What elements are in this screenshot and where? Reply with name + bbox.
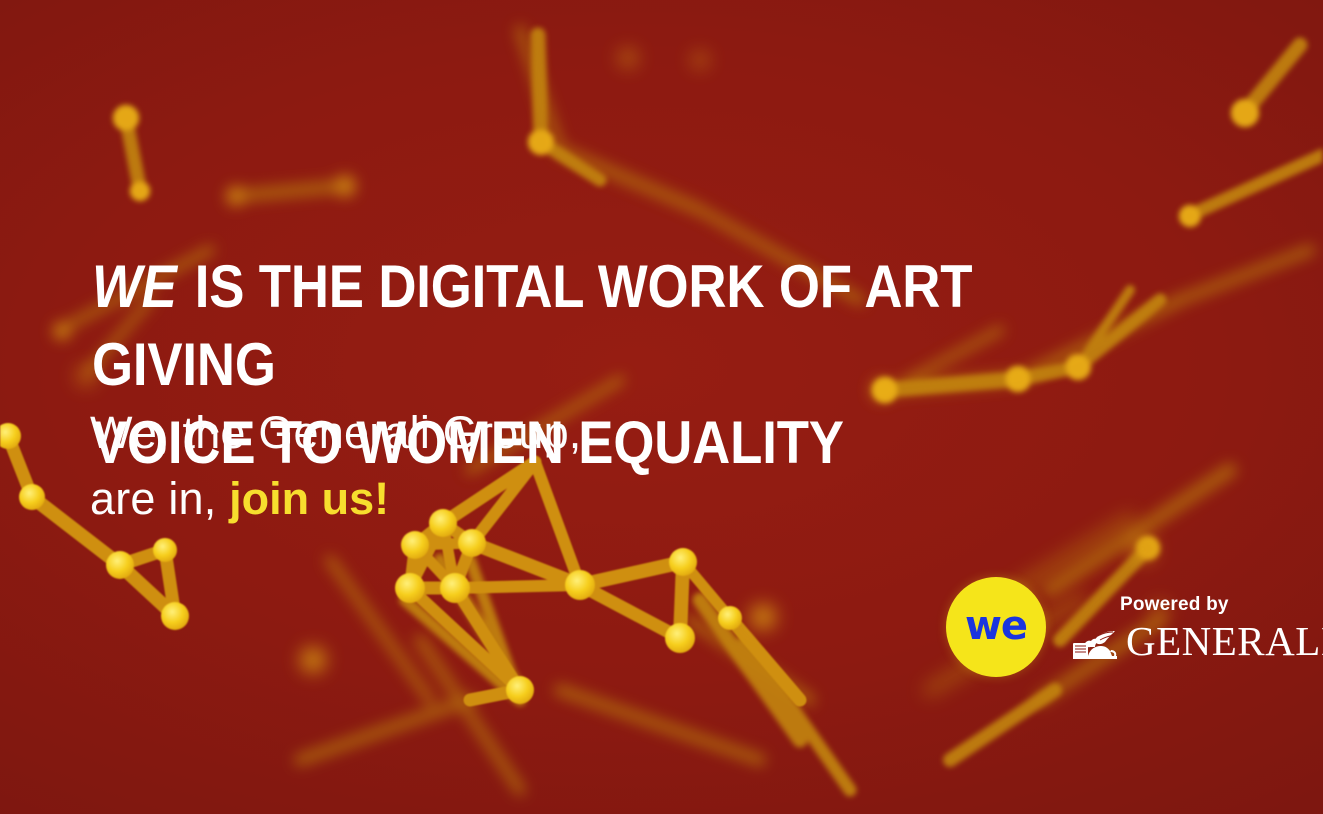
generali-brand-row: GENERALI: [1072, 621, 1323, 662]
content-layer: WE IS THE DIGITAL WORK OF ART GIVING VOI…: [0, 0, 1323, 814]
generali-wordmark: GENERALI: [1126, 621, 1323, 662]
winged-lion-emblem: [1072, 623, 1118, 661]
headline-we-mark: WE: [92, 253, 180, 320]
subtitle-line-2-prefix: are in,: [90, 473, 229, 524]
we-logo-badge[interactable]: we: [946, 577, 1046, 677]
powered-by-label: Powered by: [1120, 594, 1229, 616]
subtitle-line-1: We, the Generali Group,: [90, 400, 582, 466]
subtitle: We, the Generali Group, are in, join us!: [90, 400, 582, 532]
we-logo-text: we: [965, 606, 1027, 646]
join-us-cta[interactable]: join us!: [229, 473, 389, 524]
logo-lockup[interactable]: we Powered by: [946, 577, 1323, 677]
subtitle-line-2: are in, join us!: [90, 466, 582, 532]
banner-root: WE IS THE DIGITAL WORK OF ART GIVING VOI…: [0, 0, 1323, 814]
generali-logo-block: Powered by: [1072, 594, 1323, 662]
